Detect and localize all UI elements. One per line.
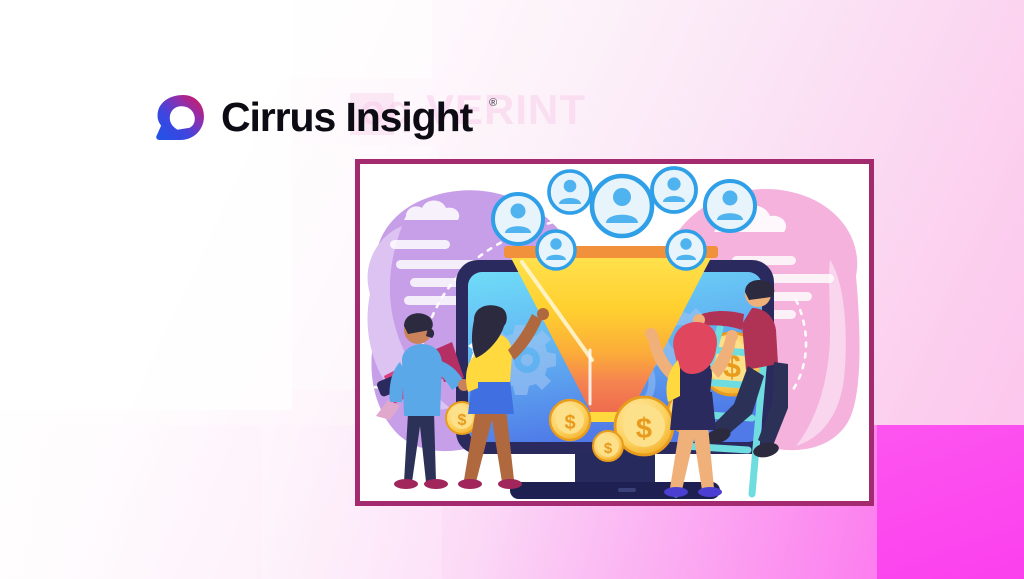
magenta-accent-panel <box>877 425 1024 579</box>
monitor-base <box>510 482 720 499</box>
user-avatar-icon <box>592 176 652 236</box>
user-avatar-icon <box>549 171 591 213</box>
svg-text:$: $ <box>636 413 652 445</box>
user-avatar-icon <box>652 168 696 212</box>
screenshot-canvas: oq VERINT Cirrus Insight ® <box>0 0 1024 579</box>
user-avatar-icon <box>667 231 705 269</box>
brand-logo-lockup[interactable]: Cirrus Insight ® <box>155 92 497 143</box>
illustration-frame: $ $ $ $ <box>355 159 874 506</box>
svg-text:$: $ <box>458 412 467 429</box>
dollar-coin-icon: $ <box>593 431 623 461</box>
background-block <box>0 0 292 410</box>
user-avatar-icon <box>705 181 755 231</box>
user-avatar-icon <box>493 194 543 244</box>
brand-wordmark: Cirrus Insight <box>221 97 472 138</box>
sales-funnel-lead-conversion-illustration: $ $ $ $ <box>360 164 869 501</box>
cirrus-droplet-logo-icon <box>155 92 206 143</box>
dollar-coin-icon: $ <box>550 400 590 440</box>
user-avatar-icon <box>537 231 575 269</box>
svg-text:$: $ <box>564 412 575 434</box>
background-block <box>282 0 432 78</box>
monitor-base-highlight <box>618 488 636 492</box>
svg-text:$: $ <box>604 440 613 457</box>
registered-trademark-mark: ® <box>489 97 497 109</box>
